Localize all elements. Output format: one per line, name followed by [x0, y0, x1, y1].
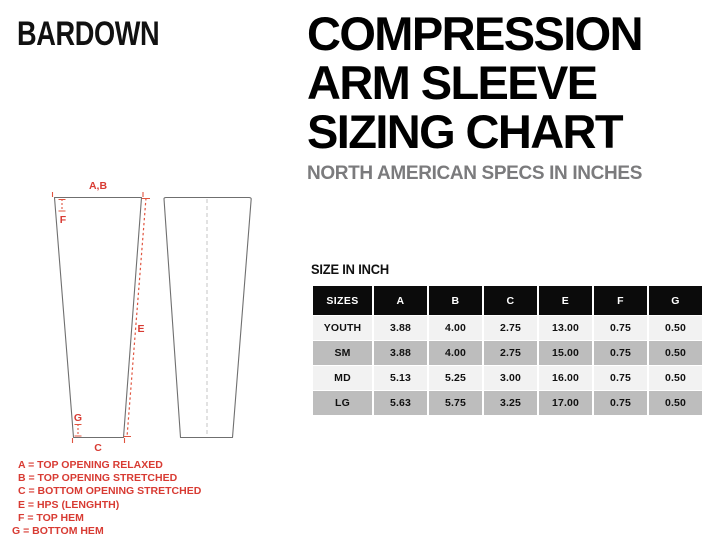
legend-item-c: C = BOTTOM OPENING STRETCHED	[18, 485, 278, 498]
table-row: SM 3.88 4.00 2.75 15.00 0.75 0.50	[313, 341, 702, 365]
label-bottom-hem: G	[74, 412, 82, 424]
front-panel-outline	[55, 198, 142, 438]
cell-f: 0.75	[594, 341, 647, 365]
title-line-3: SIZING CHART	[307, 108, 697, 155]
cell-b: 4.00	[429, 341, 482, 365]
column-header-a: A	[374, 286, 427, 315]
cell-a: 5.13	[374, 366, 427, 390]
cell-size: LG	[313, 391, 372, 415]
cell-f: 0.75	[594, 391, 647, 415]
cell-g: 0.50	[649, 341, 702, 365]
legend-item-g: G = BOTTOM HEM	[12, 525, 278, 538]
cell-g: 0.50	[649, 391, 702, 415]
column-header-b: B	[429, 286, 482, 315]
column-header-g: G	[649, 286, 702, 315]
cell-a: 3.88	[374, 316, 427, 340]
cell-b: 4.00	[429, 316, 482, 340]
column-header-c: C	[484, 286, 537, 315]
column-header-sizes: SIZES	[313, 286, 372, 315]
label-bottom-width: C	[94, 442, 102, 454]
page-subtitle: NORTH AMERICAN SPECS IN INCHES	[307, 164, 697, 184]
cell-g: 0.50	[649, 366, 702, 390]
marker-length	[124, 198, 151, 437]
cell-e: 17.00	[539, 391, 592, 415]
cell-size: SM	[313, 341, 372, 365]
legend-item-e: E = HPS (LENGHTH)	[18, 499, 278, 512]
marker-bottom-hem	[75, 424, 82, 436]
label-top-hem: F	[60, 214, 67, 226]
cell-size: MD	[313, 366, 372, 390]
cell-g: 0.50	[649, 316, 702, 340]
cell-c: 2.75	[484, 341, 537, 365]
sleeve-technical-drawing: A,B F G C E	[0, 170, 290, 470]
cell-b: 5.75	[429, 391, 482, 415]
cell-c: 2.75	[484, 316, 537, 340]
cell-b: 5.25	[429, 366, 482, 390]
sizing-chart-page: BARDOWN COMPRESSION ARM SLEEVE SIZING CH…	[0, 0, 721, 558]
front-panel-dimension-ticks	[53, 192, 144, 443]
brand-logo: BARDOWN	[17, 16, 159, 52]
back-panel-outline	[164, 198, 251, 438]
label-length: E	[137, 323, 144, 335]
table-caption: SIZE IN INCH	[311, 261, 389, 277]
cell-e: 16.00	[539, 366, 592, 390]
marker-top-hem	[59, 199, 66, 211]
cell-e: 15.00	[539, 341, 592, 365]
cell-a: 5.63	[374, 391, 427, 415]
page-title: COMPRESSION ARM SLEEVE SIZING CHART NORT…	[307, 10, 697, 184]
cell-c: 3.00	[484, 366, 537, 390]
legend-item-f: F = TOP HEM	[18, 512, 278, 525]
cell-f: 0.75	[594, 366, 647, 390]
cell-c: 3.25	[484, 391, 537, 415]
title-line-2: ARM SLEEVE	[307, 59, 697, 106]
title-line-1: COMPRESSION	[307, 10, 697, 57]
column-header-f: F	[594, 286, 647, 315]
dimension-legend: A = TOP OPENING RELAXED B = TOP OPENING …	[18, 459, 278, 538]
cell-e: 13.00	[539, 316, 592, 340]
legend-item-b: B = TOP OPENING STRETCHED	[18, 472, 278, 485]
cell-size: YOUTH	[313, 316, 372, 340]
legend-item-a: A = TOP OPENING RELAXED	[18, 459, 278, 472]
table-row: LG 5.63 5.75 3.25 17.00 0.75 0.50	[313, 391, 702, 415]
table-row: YOUTH 3.88 4.00 2.75 13.00 0.75 0.50	[313, 316, 702, 340]
size-chart-table: SIZES A B C E F G YOUTH 3.88 4.00 2.75 1…	[311, 285, 704, 416]
table-row: MD 5.13 5.25 3.00 16.00 0.75 0.50	[313, 366, 702, 390]
table-header-row: SIZES A B C E F G	[313, 286, 702, 315]
column-header-e: E	[539, 286, 592, 315]
label-top-width: A,B	[89, 180, 108, 192]
cell-a: 3.88	[374, 341, 427, 365]
cell-f: 0.75	[594, 316, 647, 340]
